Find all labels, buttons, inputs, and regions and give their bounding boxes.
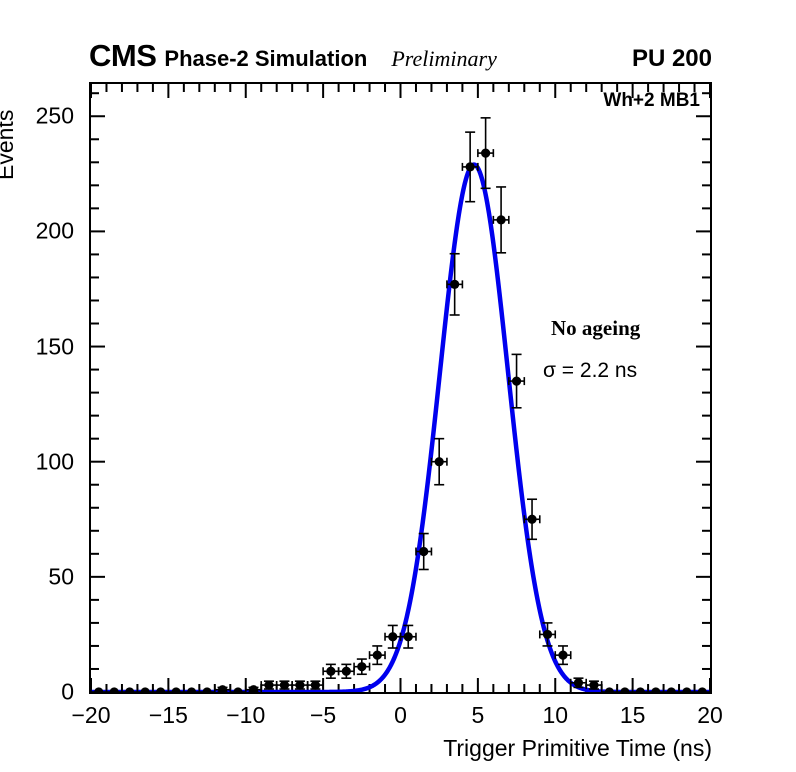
x-tick-label: −10 [211, 702, 281, 729]
x-tick-label: −20 [56, 702, 126, 729]
data-point [493, 187, 508, 253]
data-point [91, 687, 106, 692]
plot-canvas: CMS Phase-2 Simulation Preliminary PU 20… [0, 0, 796, 772]
plot-drawing-area [91, 84, 710, 692]
x-tick-label: −5 [288, 702, 358, 729]
cms-header: CMS Phase-2 Simulation Preliminary PU 20… [89, 40, 712, 74]
axis-ticks [91, 84, 710, 692]
data-point [122, 687, 137, 692]
data-point [184, 687, 199, 692]
y-tick-label: 50 [8, 563, 74, 590]
data-point [292, 680, 307, 689]
data-point [695, 687, 710, 692]
x-tick-label: −15 [133, 702, 203, 729]
x-tick-label: 5 [443, 702, 513, 729]
y-tick-label: 150 [8, 333, 74, 360]
cms-logo: CMS [89, 40, 156, 71]
data-point [648, 687, 663, 692]
pileup-label: PU 200 [632, 47, 712, 71]
data-point [323, 664, 338, 678]
x-tick-label: 0 [366, 702, 436, 729]
data-point [261, 680, 276, 689]
y-tick-label: 250 [8, 103, 74, 130]
data-point [153, 687, 168, 692]
data-point [106, 687, 121, 692]
data-point [679, 687, 694, 692]
cms-subtitle: Phase-2 Simulation [164, 48, 367, 70]
data-point [277, 680, 292, 689]
sigma-annotation: σ = 2.2 ns [543, 359, 637, 383]
cms-status-preliminary: Preliminary [391, 48, 497, 70]
data-point [370, 646, 385, 664]
data-point [633, 687, 648, 692]
data-point [230, 687, 245, 692]
x-tick-label: 15 [598, 702, 668, 729]
data-point [308, 680, 323, 689]
data-point [199, 687, 214, 692]
plot-frame: Wh+2 MB1 No ageing σ = 2.2 ns [89, 82, 712, 694]
data-point [168, 687, 183, 692]
x-tick-label: 10 [520, 702, 590, 729]
data-point [354, 659, 369, 674]
data-point [137, 687, 152, 692]
data-point [339, 664, 354, 678]
ageing-annotation: No ageing [551, 316, 640, 341]
data-points-group [91, 118, 710, 692]
y-tick-label: 100 [8, 448, 74, 475]
data-point [664, 687, 679, 692]
x-tick-label: 20 [675, 702, 745, 729]
region-label: Wh+2 MB1 [603, 90, 700, 112]
x-axis-title: Trigger Primitive Time (ns) [443, 735, 712, 762]
gaussian-fit-curve [91, 165, 710, 692]
y-tick-label: 200 [8, 218, 74, 245]
